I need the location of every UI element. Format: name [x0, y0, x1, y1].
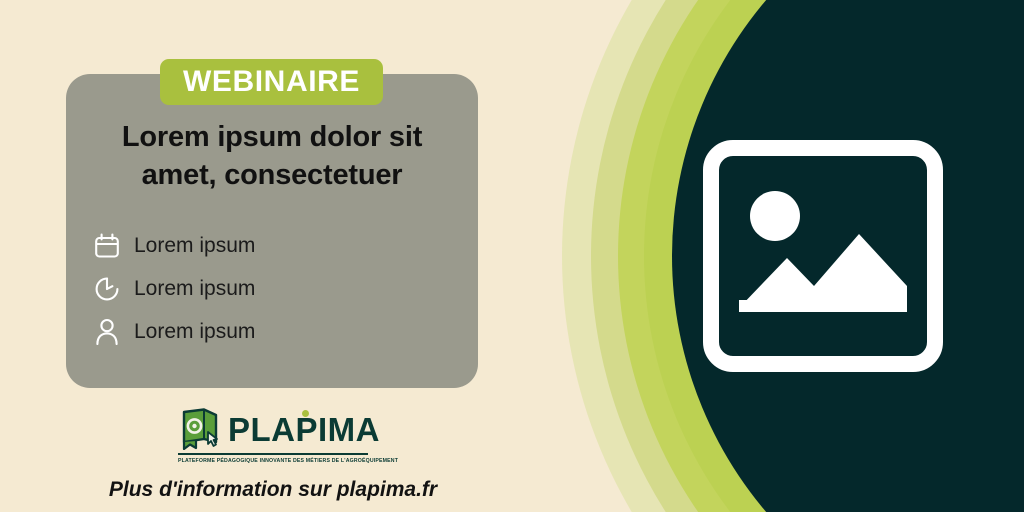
logo-block: PLAPIMA PLATEFORME PÉDAGOGIQUE INNOVANTE…: [178, 407, 370, 469]
logo-row: PLAPIMA: [178, 407, 370, 451]
list-item-label: Lorem ipsum: [134, 235, 255, 256]
clock-icon: [92, 274, 122, 304]
decorative-right-fill: [980, 0, 1024, 512]
list-item: Lorem ipsum: [92, 267, 422, 310]
webinaire-badge: WEBINAIRE: [160, 59, 383, 105]
detail-list: Lorem ipsum Lorem ipsum Lorem ipsum: [92, 224, 422, 353]
logo-divider: [178, 453, 368, 455]
list-item-label: Lorem ipsum: [134, 278, 255, 299]
webinar-banner: WEBINAIRE Lorem ipsum dolor sit amet, co…: [0, 0, 1024, 512]
calendar-icon: [92, 231, 122, 261]
book-gear-icon: [178, 408, 222, 450]
logo-wordmark-dot: [302, 410, 309, 417]
logo-tagline: PLATEFORME PÉDAGOGIQUE INNOVANTE DES MÉT…: [178, 458, 368, 464]
footer-note: Plus d'information sur plapima.fr: [0, 479, 546, 500]
list-item: Lorem ipsum: [92, 224, 422, 267]
person-icon: [92, 317, 122, 347]
page-title: Lorem ipsum dolor sit amet, consectetuer: [86, 118, 458, 195]
list-item: Lorem ipsum: [92, 310, 422, 353]
logo-wordmark: PLAPIMA: [228, 413, 380, 446]
image-placeholder-icon: [703, 140, 943, 372]
list-item-label: Lorem ipsum: [134, 321, 255, 342]
webinaire-badge-label: WEBINAIRE: [183, 67, 360, 97]
